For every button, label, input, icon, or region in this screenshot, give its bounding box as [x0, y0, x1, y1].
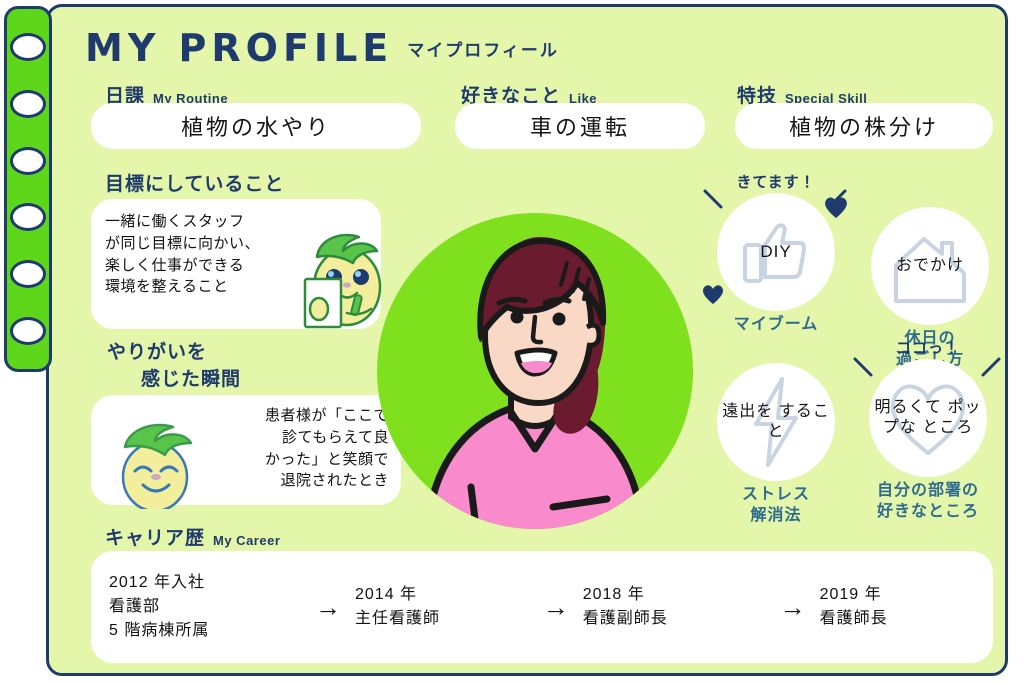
top-cards-row: 日課 My Routine 植物の水やり 好きなこと Like 車の運転 特技 … [49, 85, 1008, 157]
binder-hole [10, 317, 46, 345]
badge-holiday-value: おでかけ [896, 256, 964, 276]
emphasis-slash-icon [703, 189, 725, 211]
worth-label-line1: やりがいを [107, 337, 207, 364]
badge-my-boom-value: DIY [760, 241, 791, 262]
binder-hole [10, 33, 46, 61]
badge-dept-circle: ココっ！ 明るくて ポップな ところ [869, 359, 987, 477]
card-routine-value: 植物の水やり [91, 103, 421, 149]
badge-stress-relief: 遠出を すること ストレス 解消法 [717, 363, 835, 527]
badge-stress-caption: ストレス 解消法 [717, 485, 835, 527]
card-routine: 植物の水やり [91, 103, 421, 149]
nurse-portrait-illustration [375, 211, 695, 531]
binder-strip [4, 6, 52, 372]
career-arrow-icon: → [315, 592, 341, 623]
badge-stress-circle: 遠出を すること [717, 363, 835, 481]
badge-my-boom-circle: きてます！ DIY [717, 193, 835, 311]
title-english: MY PROFILE [85, 29, 393, 67]
badge-holiday-circle: おでかけ [871, 207, 989, 325]
worth-label-line2: 感じた瞬間 [141, 364, 241, 391]
badge-dept-value: 明るくて ポップな ところ [869, 398, 987, 438]
binder-hole [10, 203, 46, 231]
badge-my-boom: きてます！ DIY マイブーム [717, 193, 835, 336]
badge-my-boom-caption: マイブーム [717, 315, 835, 336]
emphasis-slash-icon [853, 357, 875, 379]
career-arrow-icon: → [543, 592, 569, 623]
card-skill: 植物の株分け [735, 103, 993, 149]
badge-favorite-department: ココっ！ 明るくて ポップな ところ 自分の部署の 好きなところ [869, 359, 987, 523]
badge-dept-caption: 自分の部署の 好きなところ [869, 481, 987, 523]
goal-card: 一緒に働くスタッフ が同じ目標に向かい、 楽しく仕事ができる 環境を整えること [91, 199, 381, 329]
career-card: 2012 年入社 看護部 5 階病棟所属 → 2014 年 主任看護師 → 20… [91, 551, 993, 663]
page-background: MY PROFILE マイプロフィール 日課 My Routine 植物の水やり… [46, 4, 1008, 676]
binder-hole [10, 90, 46, 118]
badge-my-boom-pop: きてます！ [717, 171, 835, 192]
career-label-ja: キャリア歴 [105, 523, 205, 550]
page-title: MY PROFILE マイプロフィール [85, 29, 559, 67]
career-step: 2019 年 看護師長 [820, 583, 975, 631]
career-step: 2012 年入社 看護部 5 階病棟所属 [109, 571, 301, 643]
career-step: 2018 年 看護副師長 [583, 583, 766, 631]
goal-label-text: 目標にしていること [105, 169, 284, 196]
emphasis-slash-icon [979, 357, 1001, 379]
heart-icon [823, 195, 849, 219]
worth-card: 患者様が「ここで 診てもらえて良 かった」と笑顔で 退院されたとき [91, 395, 401, 505]
card-like: 車の運転 [455, 103, 705, 149]
binder-hole [10, 147, 46, 175]
goal-label: 目標にしていること [105, 169, 284, 196]
card-skill-value: 植物の株分け [735, 103, 993, 149]
career-label: キャリア歴 My Career [105, 523, 280, 550]
career-arrow-icon: → [780, 592, 806, 623]
career-timeline: 2012 年入社 看護部 5 階病棟所属 → 2014 年 主任看護師 → 20… [91, 551, 993, 663]
heart-icon [701, 283, 725, 305]
profile-sheet: MY PROFILE マイプロフィール 日課 My Routine 植物の水やり… [0, 0, 1024, 684]
mascot-smiling-icon [105, 417, 205, 509]
worth-label: やりがいを 感じた瞬間 [107, 337, 357, 391]
binder-hole [10, 260, 46, 288]
badge-dept-pop: ココっ！ [869, 337, 987, 358]
badge-stress-value: 遠出を すること [717, 402, 835, 442]
career-step: 2014 年 主任看護師 [355, 583, 529, 631]
card-like-value: 車の運転 [455, 103, 705, 149]
career-label-en: My Career [213, 533, 280, 550]
title-japanese: マイプロフィール [407, 36, 559, 67]
